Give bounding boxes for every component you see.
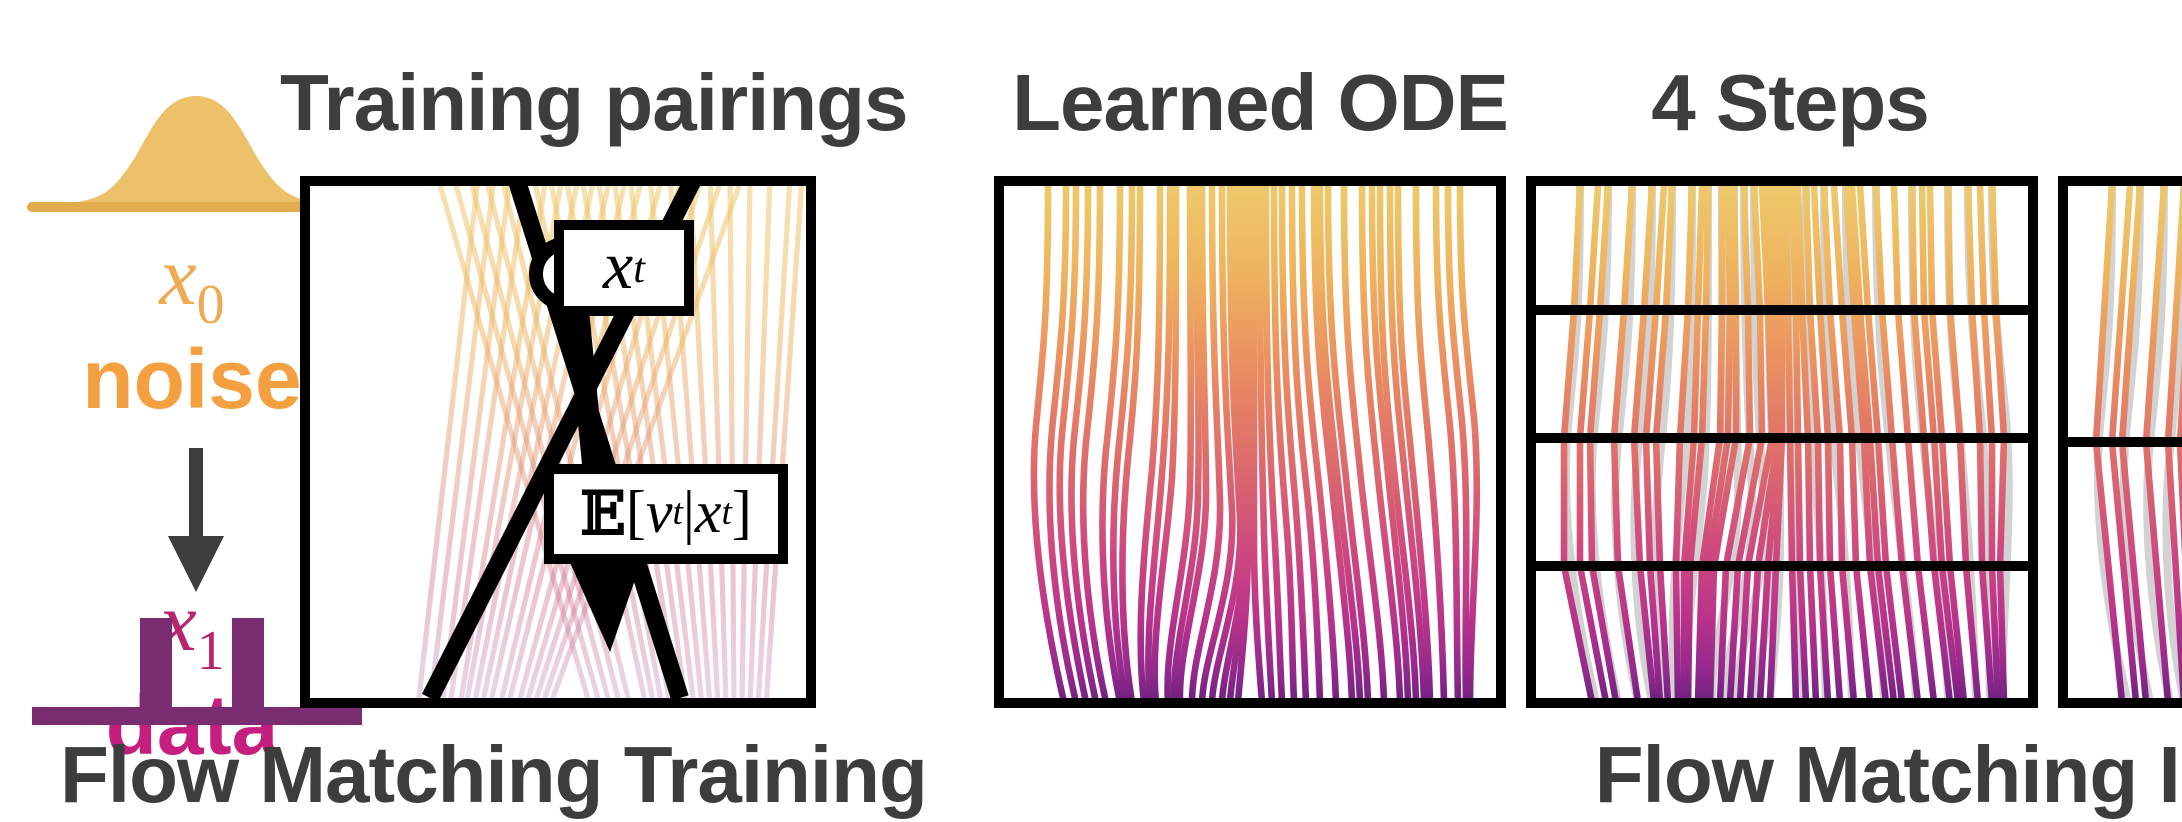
figure-root: x0 noise x1 data Training pairings bbox=[0, 0, 2182, 596]
plot-two-steps bbox=[2058, 176, 2182, 708]
caption-flow-matching-inference: Flow Matching Inference bbox=[1200, 732, 2182, 822]
two-steps-canvas bbox=[2068, 186, 2182, 698]
panel-title-training-pairings: Training pairings bbox=[280, 60, 860, 150]
panel-title-learned-ode: Learned ODE bbox=[1000, 60, 1520, 150]
plot-learned-ode bbox=[994, 176, 1506, 708]
caption-flow-matching-training: Flow Matching Training bbox=[60, 732, 860, 822]
learned-ode-canvas bbox=[1004, 186, 1496, 698]
four-steps-canvas bbox=[1536, 186, 2028, 698]
expected-velocity-box: 𝔼[vt|xt] bbox=[544, 464, 788, 564]
panel-title-four-steps: 4 Steps bbox=[1530, 60, 2050, 150]
panel-title-two-steps: 2 Steps bbox=[2060, 60, 2182, 150]
plot-four-steps bbox=[1526, 176, 2038, 708]
xt-box: xt bbox=[554, 220, 694, 316]
